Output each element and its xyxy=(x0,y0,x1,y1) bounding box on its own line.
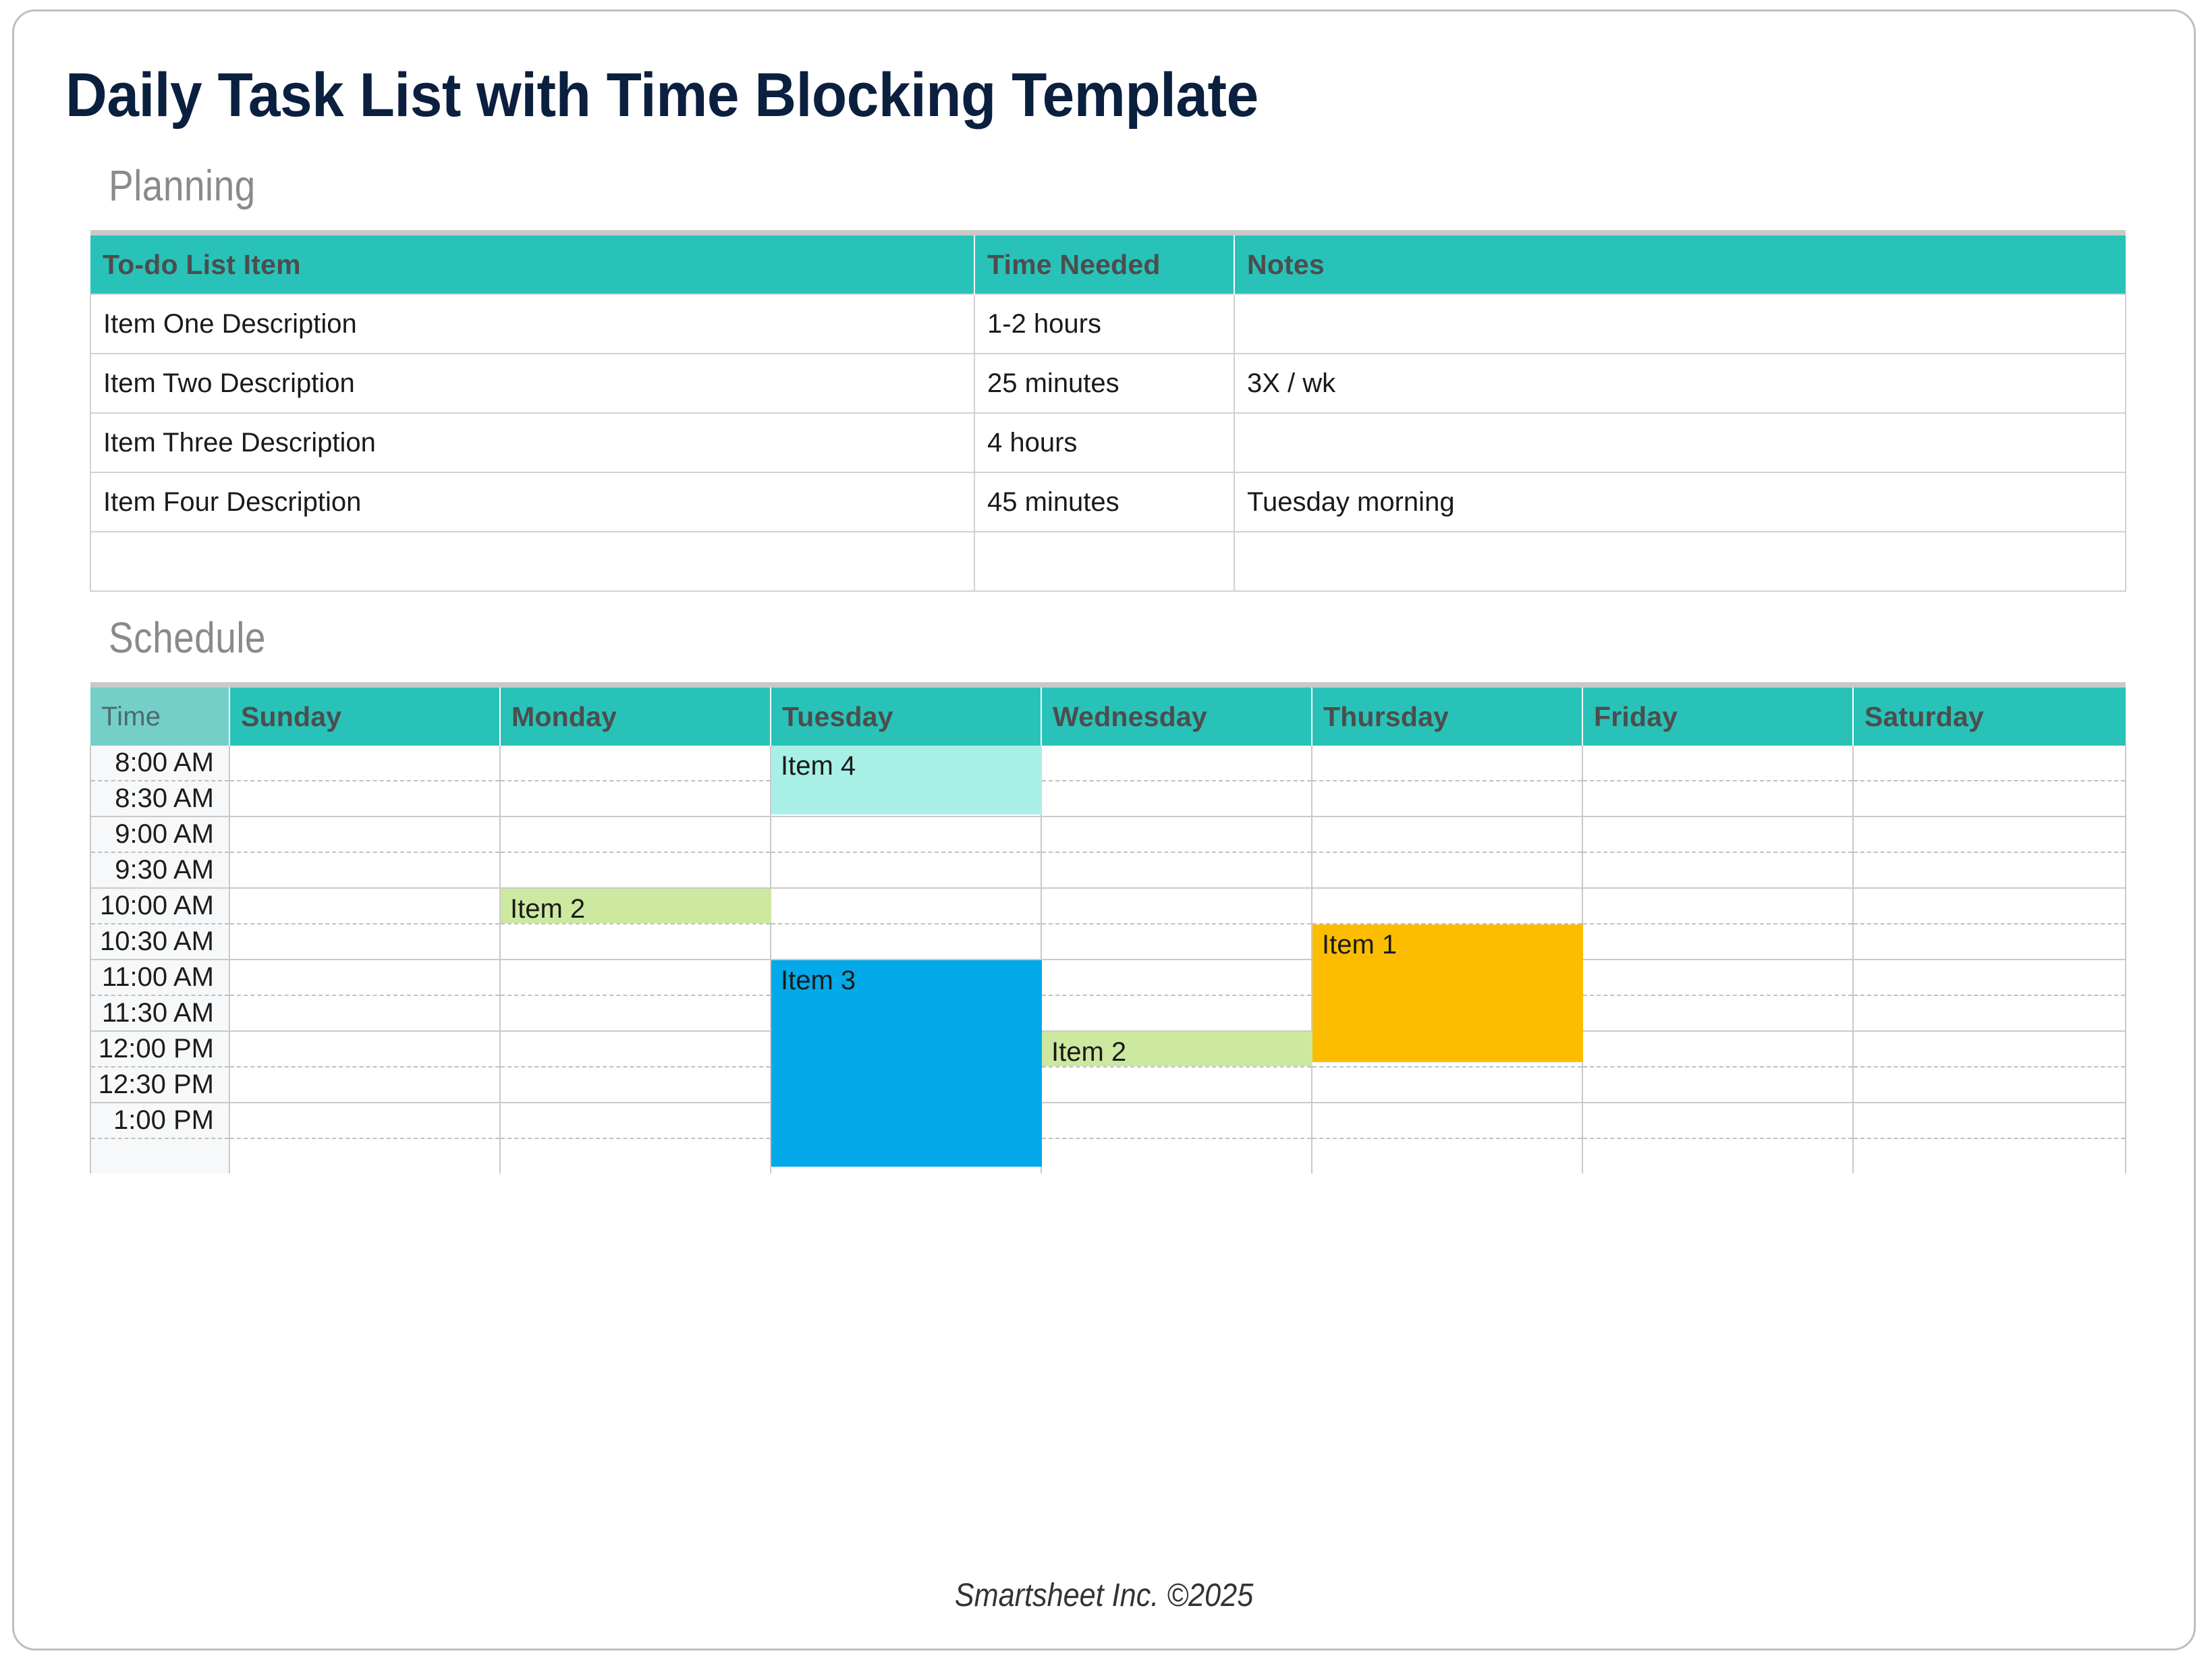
schedule-cell-thursday-empty[interactable] xyxy=(1312,1138,1582,1173)
schedule-row: 12:30 PM xyxy=(90,1067,2126,1103)
schedule-cell-tuesday-1100am[interactable]: Item 3 xyxy=(771,960,1041,995)
schedule-row: 11:00 AMItem 3 xyxy=(90,960,2126,995)
schedule-time-label: 9:00 AM xyxy=(90,816,229,852)
schedule-col-header-tuesday: Tuesday xyxy=(771,685,1041,746)
schedule-cell-thursday-900am[interactable] xyxy=(1312,816,1582,852)
schedule-time-label: 12:00 PM xyxy=(90,1031,229,1067)
schedule-row xyxy=(90,1138,2126,1173)
schedule-time-label: 8:00 AM xyxy=(90,746,229,781)
schedule-time-label: 1:00 PM xyxy=(90,1103,229,1138)
schedule-cell-friday-830am[interactable] xyxy=(1582,781,1853,816)
schedule-cell-thursday-100pm[interactable] xyxy=(1312,1103,1582,1138)
schedule-cell-tuesday-1030am[interactable] xyxy=(771,924,1041,960)
schedule-cell-saturday-900am[interactable] xyxy=(1853,816,2126,852)
schedule-cell-friday-900am[interactable] xyxy=(1582,816,1853,852)
schedule-cell-saturday-1100am[interactable] xyxy=(1853,960,2126,995)
schedule-cell-wednesday-1130am[interactable] xyxy=(1041,995,1312,1031)
schedule-event-label: Item 1 xyxy=(1322,930,1397,960)
schedule-event-block[interactable]: Item 2 xyxy=(501,889,771,923)
schedule-row: 10:30 AMItem 1 xyxy=(90,924,2126,960)
schedule-row: 8:30 AM xyxy=(90,781,2126,816)
planning-cell-time[interactable]: 1-2 hours xyxy=(974,294,1234,354)
schedule-row: 8:00 AMItem 4 xyxy=(90,746,2126,781)
schedule-cell-saturday-empty[interactable] xyxy=(1853,1138,2126,1173)
schedule-cell-wednesday-100pm[interactable] xyxy=(1041,1103,1312,1138)
schedule-cell-wednesday-1000am[interactable] xyxy=(1041,888,1312,924)
schedule-cell-sunday-1000am[interactable] xyxy=(229,888,500,924)
schedule-cell-sunday-800am[interactable] xyxy=(229,746,500,781)
schedule-col-header-monday: Monday xyxy=(500,685,771,746)
schedule-col-header-wednesday: Wednesday xyxy=(1041,685,1312,746)
planning-cell-item[interactable]: Item Three Description xyxy=(90,413,974,472)
schedule-event-label: Item 2 xyxy=(510,894,585,924)
schedule-row: 1:00 PM xyxy=(90,1103,2126,1138)
schedule-cell-monday-empty[interactable] xyxy=(500,1138,771,1173)
schedule-col-header-sunday: Sunday xyxy=(229,685,500,746)
schedule-cell-saturday-1200pm[interactable] xyxy=(1853,1031,2126,1067)
schedule-col-header-thursday: Thursday xyxy=(1312,685,1582,746)
planning-cell-item[interactable] xyxy=(90,532,974,591)
planning-table: To-do List Item Time Needed Notes Item O… xyxy=(90,230,2126,592)
schedule-row: 12:00 PMItem 2 xyxy=(90,1031,2126,1067)
table-row[interactable] xyxy=(90,532,2126,591)
table-row[interactable]: Item Two Description 25 minutes 3X / wk xyxy=(90,354,2126,413)
schedule-cell-saturday-830am[interactable] xyxy=(1853,781,2126,816)
planning-cell-item[interactable]: Item One Description xyxy=(90,294,974,354)
schedule-cell-thursday-830am[interactable] xyxy=(1312,781,1582,816)
schedule-time-label: 10:30 AM xyxy=(90,924,229,960)
schedule-cell-friday-800am[interactable] xyxy=(1582,746,1853,781)
schedule-section-heading: Schedule xyxy=(109,616,266,659)
schedule-cell-friday-1130am[interactable] xyxy=(1582,995,1853,1031)
schedule-time-label: 8:30 AM xyxy=(90,781,229,816)
schedule-cell-tuesday-800am[interactable]: Item 4 xyxy=(771,746,1041,781)
schedule-cell-wednesday-1230pm[interactable] xyxy=(1041,1067,1312,1103)
planning-cell-item[interactable]: Item Four Description xyxy=(90,472,974,532)
schedule-cell-wednesday-1100am[interactable] xyxy=(1041,960,1312,995)
schedule-cell-saturday-930am[interactable] xyxy=(1853,852,2126,888)
schedule-cell-monday-830am[interactable] xyxy=(500,781,771,816)
schedule-cell-saturday-1030am[interactable] xyxy=(1853,924,2126,960)
schedule-col-header-time: Time xyxy=(90,685,229,746)
footer-copyright: Smartsheet Inc. ©2025 xyxy=(123,1577,2085,1614)
schedule-cell-sunday-empty[interactable] xyxy=(229,1138,500,1173)
schedule-event-label: Item 2 xyxy=(1051,1037,1126,1067)
schedule-event-label: Item 3 xyxy=(781,966,856,995)
schedule-row: 10:00 AMItem 2 xyxy=(90,888,2126,924)
schedule-cell-friday-1230pm[interactable] xyxy=(1582,1067,1853,1103)
schedule-cell-thursday-800am[interactable] xyxy=(1312,746,1582,781)
schedule-time-label xyxy=(90,1138,229,1173)
schedule-cell-thursday-1230pm[interactable] xyxy=(1312,1067,1582,1103)
schedule-cell-sunday-830am[interactable] xyxy=(229,781,500,816)
planning-cell-time[interactable] xyxy=(974,532,1234,591)
schedule-row: 9:30 AM xyxy=(90,852,2126,888)
schedule-row: 9:00 AM xyxy=(90,816,2126,852)
schedule-time-label: 11:30 AM xyxy=(90,995,229,1031)
planning-cell-notes[interactable] xyxy=(1234,294,2126,354)
schedule-cell-sunday-900am[interactable] xyxy=(229,816,500,852)
schedule-cell-tuesday-930am[interactable] xyxy=(771,852,1041,888)
planning-cell-notes[interactable] xyxy=(1234,413,2126,472)
schedule-time-label: 12:30 PM xyxy=(90,1067,229,1103)
schedule-cell-monday-1230pm[interactable] xyxy=(500,1067,771,1103)
schedule-cell-monday-1200pm[interactable] xyxy=(500,1031,771,1067)
planning-col-header-todo: To-do List Item xyxy=(90,233,974,294)
schedule-cell-sunday-930am[interactable] xyxy=(229,852,500,888)
schedule-cell-sunday-1230pm[interactable] xyxy=(229,1067,500,1103)
planning-cell-time[interactable]: 4 hours xyxy=(974,413,1234,472)
schedule-cell-saturday-800am[interactable] xyxy=(1853,746,2126,781)
schedule-cell-monday-900am[interactable] xyxy=(500,816,771,852)
schedule-cell-wednesday-800am[interactable] xyxy=(1041,746,1312,781)
schedule-cell-saturday-1230pm[interactable] xyxy=(1853,1067,2126,1103)
schedule-time-label: 10:00 AM xyxy=(90,888,229,924)
schedule-event-block[interactable]: Item 1 xyxy=(1312,924,1583,1062)
schedule-cell-wednesday-1200pm[interactable]: Item 2 xyxy=(1041,1031,1312,1067)
schedule-cell-monday-1130am[interactable] xyxy=(500,995,771,1031)
schedule-cell-friday-1200pm[interactable] xyxy=(1582,1031,1853,1067)
schedule-cell-wednesday-930am[interactable] xyxy=(1041,852,1312,888)
schedule-cell-sunday-1200pm[interactable] xyxy=(229,1031,500,1067)
schedule-cell-monday-100pm[interactable] xyxy=(500,1103,771,1138)
planning-cell-notes[interactable]: Tuesday morning xyxy=(1234,472,2126,532)
schedule-table: Time Sunday Monday Tuesday Wednesday Thu… xyxy=(90,682,2126,1173)
planning-header-row: To-do List Item Time Needed Notes xyxy=(90,233,2126,294)
schedule-col-header-saturday: Saturday xyxy=(1853,685,2126,746)
schedule-row: 11:30 AM xyxy=(90,995,2126,1031)
table-row[interactable]: Item Four Description 45 minutes Tuesday… xyxy=(90,472,2126,532)
schedule-cell-sunday-1100am[interactable] xyxy=(229,960,500,995)
schedule-cell-wednesday-830am[interactable] xyxy=(1041,781,1312,816)
schedule-event-block[interactable]: Item 4 xyxy=(771,746,1042,814)
schedule-cell-wednesday-empty[interactable] xyxy=(1041,1138,1312,1173)
table-row[interactable]: Item Three Description 4 hours xyxy=(90,413,2126,472)
schedule-cell-monday-1000am[interactable]: Item 2 xyxy=(500,888,771,924)
schedule-event-block[interactable]: Item 2 xyxy=(1042,1032,1312,1066)
schedule-cell-thursday-1000am[interactable] xyxy=(1312,888,1582,924)
planning-cell-item[interactable]: Item Two Description xyxy=(90,354,974,413)
planning-cell-notes[interactable]: 3X / wk xyxy=(1234,354,2126,413)
schedule-cell-friday-1100am[interactable] xyxy=(1582,960,1853,995)
schedule-cell-friday-1030am[interactable] xyxy=(1582,924,1853,960)
planning-col-header-notes: Notes xyxy=(1234,233,2126,294)
schedule-cell-tuesday-1000am[interactable] xyxy=(771,888,1041,924)
schedule-cell-friday-100pm[interactable] xyxy=(1582,1103,1853,1138)
schedule-cell-friday-930am[interactable] xyxy=(1582,852,1853,888)
schedule-header-row: Time Sunday Monday Tuesday Wednesday Thu… xyxy=(90,685,2126,746)
schedule-cell-sunday-1130am[interactable] xyxy=(229,995,500,1031)
schedule-cell-monday-1100am[interactable] xyxy=(500,960,771,995)
schedule-col-header-friday: Friday xyxy=(1582,685,1853,746)
schedule-event-label: Item 4 xyxy=(781,751,856,781)
schedule-event-block[interactable]: Item 3 xyxy=(771,960,1042,1167)
page-title: Daily Task List with Time Blocking Templ… xyxy=(65,64,1259,126)
schedule-cell-sunday-1030am[interactable] xyxy=(229,924,500,960)
schedule-cell-saturday-100pm[interactable] xyxy=(1853,1103,2126,1138)
schedule-cell-thursday-1030am[interactable]: Item 1 xyxy=(1312,924,1582,960)
schedule-cell-wednesday-1030am[interactable] xyxy=(1041,924,1312,960)
schedule-cell-monday-800am[interactable] xyxy=(500,746,771,781)
schedule-cell-wednesday-900am[interactable] xyxy=(1041,816,1312,852)
planning-cell-notes[interactable] xyxy=(1234,532,2126,591)
schedule-cell-saturday-1130am[interactable] xyxy=(1853,995,2126,1031)
schedule-cell-thursday-930am[interactable] xyxy=(1312,852,1582,888)
planning-cell-time[interactable]: 25 minutes xyxy=(974,354,1234,413)
schedule-cell-sunday-100pm[interactable] xyxy=(229,1103,500,1138)
schedule-cell-friday-empty[interactable] xyxy=(1582,1138,1853,1173)
document-page: Daily Task List with Time Blocking Templ… xyxy=(12,9,2196,1651)
table-row[interactable]: Item One Description 1-2 hours xyxy=(90,294,2126,354)
schedule-cell-saturday-1000am[interactable] xyxy=(1853,888,2126,924)
schedule-cell-monday-930am[interactable] xyxy=(500,852,771,888)
schedule-cell-friday-1000am[interactable] xyxy=(1582,888,1853,924)
schedule-time-label: 9:30 AM xyxy=(90,852,229,888)
planning-section-heading: Planning xyxy=(109,164,256,207)
schedule-cell-monday-1030am[interactable] xyxy=(500,924,771,960)
planning-col-header-time: Time Needed xyxy=(974,233,1234,294)
schedule-time-label: 11:00 AM xyxy=(90,960,229,995)
planning-cell-time[interactable]: 45 minutes xyxy=(974,472,1234,532)
schedule-cell-tuesday-900am[interactable] xyxy=(771,816,1041,852)
